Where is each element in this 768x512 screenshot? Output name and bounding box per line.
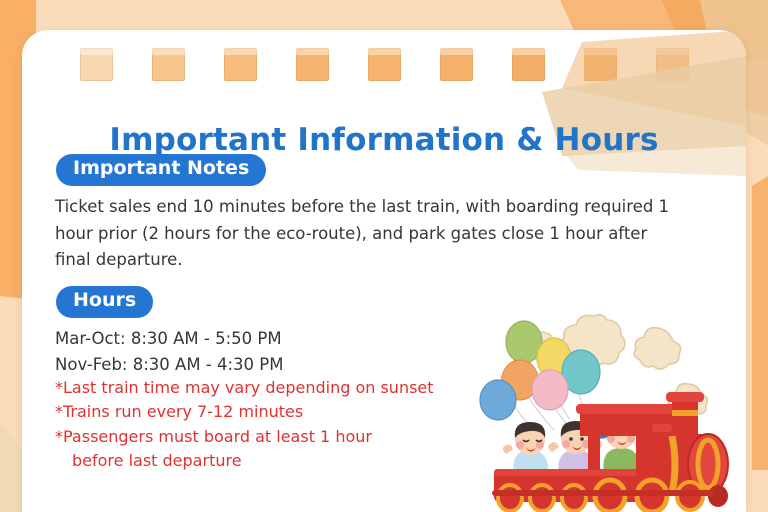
red-note-boarding: *Passengers must board at least 1 hour (55, 425, 525, 449)
hours-section-header: Hours (56, 286, 153, 318)
cartoon-train-illustration (476, 314, 746, 512)
train-gold-band (672, 436, 675, 492)
badge-hours: Hours (56, 286, 153, 318)
badge-important-notes: Important Notes (56, 154, 266, 186)
important-notes-body: Ticket sales end 10 minutes before the l… (55, 194, 680, 274)
card-content: Important Information & Hours Important … (22, 30, 746, 512)
hours-line-nov-feb: Nov-Feb: 8:30 AM - 4:30 PM (55, 352, 525, 378)
hours-line-mar-oct: Mar-Oct: 8:30 AM - 5:50 PM (55, 326, 525, 352)
red-note-boarding-continued: before last departure (55, 449, 525, 473)
balloon-blue (480, 380, 516, 420)
red-notes-list: *Last train time may vary depending on s… (55, 376, 525, 473)
right-orange-wedge (752, 176, 768, 470)
train-chimney (672, 398, 698, 436)
important-notes-section-header: Important Notes (56, 154, 266, 186)
information-card: Important Information & Hours Important … (22, 30, 746, 512)
balloon-pink (532, 370, 568, 410)
page-title: Important Information & Hours (22, 122, 746, 158)
hours-list: Mar-Oct: 8:30 AM - 5:50 PM Nov-Feb: 8:30… (55, 326, 525, 377)
red-note-frequency: *Trains run every 7-12 minutes (55, 400, 525, 424)
red-note-sunset: *Last train time may vary depending on s… (55, 376, 525, 400)
child-blue-shirt (503, 422, 548, 476)
